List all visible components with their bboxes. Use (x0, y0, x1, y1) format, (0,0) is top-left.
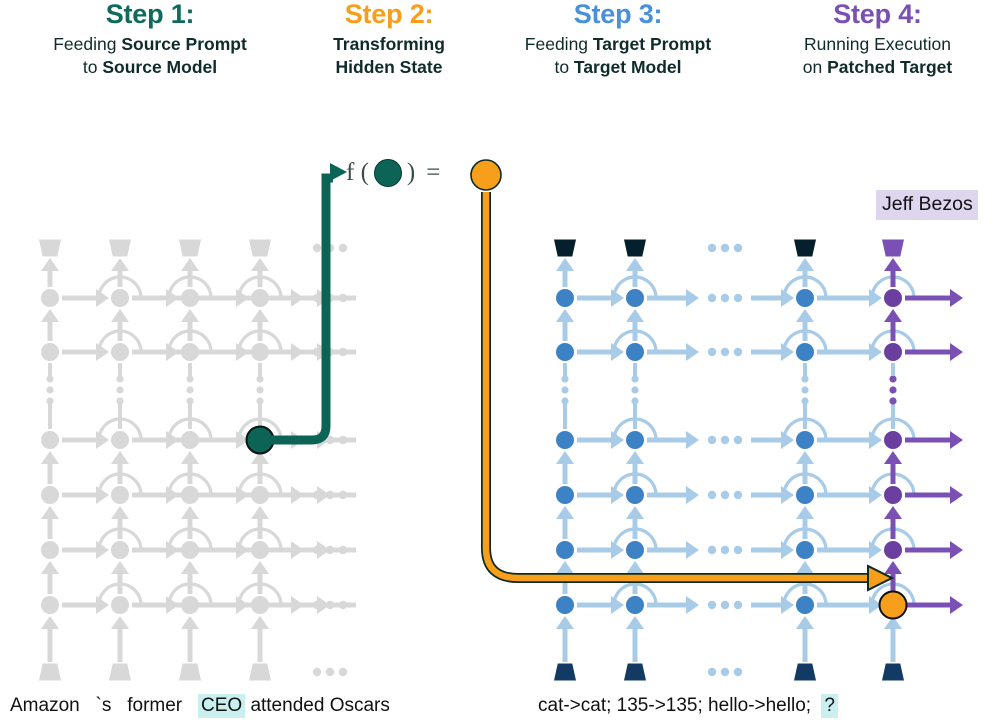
target-node-0-3 (884, 289, 902, 307)
source-head-arrow-2-head (181, 258, 199, 271)
target-out-arrow-0-head (950, 289, 963, 307)
transformed-hidden-state-node (471, 160, 501, 190)
source-out-arrow-5-head (317, 596, 330, 614)
target-varrow-5-2-head (796, 561, 814, 574)
target-head-arrow-1-head (626, 258, 644, 271)
model-output-label: Jeff Bezos (876, 190, 978, 220)
source-node-4-2 (181, 541, 199, 559)
target-row-ellipsis-3-0 (708, 491, 716, 499)
source-head-arrow-1-head (111, 258, 129, 271)
target-node-0-2 (796, 289, 814, 307)
source-varrow-5-1-head (111, 561, 129, 574)
target-node-4-0 (556, 541, 574, 559)
source-to-transform-path (272, 178, 333, 440)
target-node-3-1 (626, 486, 644, 504)
target-varrow-3-3-head (884, 451, 902, 464)
source-col-ellipsis-3-0 (256, 375, 263, 382)
target-varrow-1-0-head (556, 309, 574, 322)
target-head-ellipsis-2 (734, 244, 742, 252)
target-embed-arrow-2-head (796, 616, 814, 629)
source-head-arrow-0-head (41, 258, 59, 271)
source-varrow-4-2-head (181, 506, 199, 519)
source-col-ellipsis-2-0 (186, 375, 193, 382)
source-node-5-2 (181, 596, 199, 614)
target-out-arrow-3-head (950, 486, 963, 504)
target-row-ellipsis-5-2 (734, 601, 742, 609)
target-out-arrow-5-head (950, 596, 963, 614)
target-varrow-4-0-head (556, 506, 574, 519)
source-node-3-2 (181, 486, 199, 504)
target-query-token-highlighted: ? (821, 694, 838, 718)
target-row-ellipsis-4-2 (734, 546, 742, 554)
target-embed-token-2 (794, 664, 816, 681)
target-node-3-2 (796, 486, 814, 504)
source-node-2-1 (111, 431, 129, 449)
target-out-arrow-2-head (950, 431, 963, 449)
target-row-ellipsis-4-0 (708, 546, 716, 554)
source-embed-arrow-0-head (41, 616, 59, 629)
target-col-ellipsis-3-0 (889, 375, 896, 382)
target-node-0-0 (556, 289, 574, 307)
source-varrow-4-3-head (251, 506, 269, 519)
source-varrow-1-0-head (41, 309, 59, 322)
target-varrow-1-1-head (626, 309, 644, 322)
source-col-ellipsis-2-2 (186, 397, 193, 404)
source-node-0-2 (181, 289, 199, 307)
function-close-paren: ) (407, 159, 415, 187)
source-varrow-3-0-head (41, 451, 59, 464)
source-out-arrow-4-head (317, 541, 330, 559)
target-node-1-3 (884, 343, 902, 361)
source-embed-token-2 (179, 664, 201, 681)
source-col-ellipsis-3-2 (256, 397, 263, 404)
target-harrow-pre-1-head (686, 343, 699, 361)
source-col-ellipsis-0-2 (46, 397, 53, 404)
source-node-5-3 (251, 596, 269, 614)
source-node-3-3 (251, 486, 269, 504)
target-row-ellipsis-1-1 (721, 348, 729, 356)
target-varrow-3-2-head (796, 451, 814, 464)
source-col-ellipsis-3-1 (256, 386, 263, 393)
target-node-2-3 (884, 431, 902, 449)
source-varrow-5-0-head (41, 561, 59, 574)
target-head-1 (624, 240, 646, 257)
target-col-ellipsis-2-2 (801, 397, 808, 404)
target-row-ellipsis-5-1 (721, 601, 729, 609)
source-head-1 (109, 240, 131, 257)
target-col-ellipsis-1-2 (631, 397, 638, 404)
patched-node[interactable] (880, 592, 907, 619)
target-row-ellipsis-3-1 (721, 491, 729, 499)
target-node-4-2 (796, 541, 814, 559)
target-varrow-4-3-head (884, 506, 902, 519)
target-node-1-1 (626, 343, 644, 361)
source-node-2-0 (41, 431, 59, 449)
source-embed-ellipsis-0 (313, 668, 321, 676)
target-head-arrow-3-head (884, 258, 902, 271)
target-harrow-pre-5-head (686, 596, 699, 614)
target-varrow-5-1-head (626, 561, 644, 574)
target-row-ellipsis-0-1 (721, 294, 729, 302)
target-node-2-2 (796, 431, 814, 449)
source-head-2 (179, 240, 201, 257)
transform-function-notation: f ( ) = (346, 152, 440, 194)
target-row-ellipsis-3-2 (734, 491, 742, 499)
source-head-ellipsis-0 (313, 244, 321, 252)
target-col-ellipsis-3-1 (889, 386, 896, 393)
target-head-0 (554, 240, 576, 257)
source-node-4-1 (111, 541, 129, 559)
target-varrow-4-2-head (796, 506, 814, 519)
target-varrow-1-3-head (884, 309, 902, 322)
source-node-5-0 (41, 596, 59, 614)
source-embed-arrow-2-head (181, 616, 199, 629)
source-node-0-1 (111, 289, 129, 307)
target-node-3-3 (884, 486, 902, 504)
target-embed-arrow-0-head (556, 616, 574, 629)
target-varrow-5-3-head (884, 561, 902, 574)
target-harrow-pre-2-head (686, 431, 699, 449)
source-head-ellipsis-2 (339, 244, 347, 252)
source-varrow-1-2-head (181, 309, 199, 322)
source-col-ellipsis-0-1 (46, 386, 53, 393)
target-node-4-1 (626, 541, 644, 559)
target-node-3-0 (556, 486, 574, 504)
patch-path-outline (486, 192, 872, 578)
target-head-2 (794, 240, 816, 257)
source-varrow-1-1-head (111, 309, 129, 322)
target-node-5-0 (556, 596, 574, 614)
target-head-ellipsis-1 (721, 244, 729, 252)
source-varrow-3-1-head (111, 451, 129, 464)
target-row-ellipsis-0-2 (734, 294, 742, 302)
target-varrow-3-1-head (626, 451, 644, 464)
source-col-ellipsis-1-0 (116, 375, 123, 382)
source-node-5-1 (111, 596, 129, 614)
target-harrow-pre-4-head (686, 541, 699, 559)
function-f-label: f ( (346, 159, 369, 187)
source-varrow-5-3-head (251, 561, 269, 574)
source-embed-ellipsis-1 (326, 668, 334, 676)
source-embed-token-1 (109, 664, 131, 681)
source-token-5: Oscars (330, 695, 390, 717)
target-embed-token-3 (882, 664, 904, 681)
source-node-3-1 (111, 486, 129, 504)
target-col-ellipsis-0-2 (561, 397, 568, 404)
target-varrow-1-2-head (796, 309, 814, 322)
target-varrow-5-0-head (556, 561, 574, 574)
source-col-ellipsis-1-2 (116, 397, 123, 404)
source-head-3 (249, 240, 271, 257)
source-col-ellipsis-0-0 (46, 375, 53, 382)
source-node-4-3 (251, 541, 269, 559)
target-col-ellipsis-0-0 (561, 375, 568, 382)
source-embed-arrow-3-head (251, 616, 269, 629)
target-node-2-1 (626, 431, 644, 449)
target-embed-ellipsis-0 (708, 668, 716, 676)
target-row-ellipsis-1-0 (708, 348, 716, 356)
source-varrow-1-3-head (251, 309, 269, 322)
source-col-ellipsis-1-1 (116, 386, 123, 393)
target-node-4-3 (884, 541, 902, 559)
target-prompt-text: cat->cat; 135->135; hello->hello; ? (538, 694, 838, 718)
source-node-1-3 (251, 343, 269, 361)
source-node-1-1 (111, 343, 129, 361)
target-row-ellipsis-4-1 (721, 546, 729, 554)
target-node-2-0 (556, 431, 574, 449)
target-embed-arrow-1-head (626, 616, 644, 629)
source-hidden-state-node[interactable] (247, 427, 274, 454)
source-token-4: attended (250, 695, 324, 717)
target-row-ellipsis-1-2 (734, 348, 742, 356)
source-head-0 (39, 240, 61, 257)
target-embed-token-0 (554, 664, 576, 681)
source-prompt-text: Amazon `s former CEO attended Oscars (10, 694, 390, 718)
target-row-ellipsis-2-1 (721, 436, 729, 444)
source-node-3-0 (41, 486, 59, 504)
source-embed-token-3 (249, 664, 271, 681)
target-head-arrow-2-head (796, 258, 814, 271)
target-row-ellipsis-0-0 (708, 294, 716, 302)
patch-path (486, 192, 872, 578)
source-node-4-0 (41, 541, 59, 559)
target-node-5-1 (626, 596, 644, 614)
target-col-ellipsis-1-0 (631, 375, 638, 382)
target-node-1-2 (796, 343, 814, 361)
source-embed-token-0 (39, 664, 61, 681)
source-varrow-3-2-head (181, 451, 199, 464)
equals-sign: = (426, 159, 440, 187)
source-node-1-2 (181, 343, 199, 361)
source-hidden-state-node-icon (374, 159, 402, 187)
target-row-ellipsis-5-0 (708, 601, 716, 609)
target-head-ellipsis-0 (708, 244, 716, 252)
target-col-ellipsis-2-0 (801, 375, 808, 382)
source-head-arrow-3-head (251, 258, 269, 271)
target-embed-token-1 (624, 664, 646, 681)
target-harrow-pre-3-head (686, 486, 699, 504)
target-col-ellipsis-1-1 (631, 386, 638, 393)
source-node-1-0 (41, 343, 59, 361)
source-token-1: `s (96, 695, 112, 717)
network-diagram-svg (0, 0, 997, 724)
target-head-3 (882, 240, 904, 257)
target-head-arrow-0-head (556, 258, 574, 271)
target-col-ellipsis-3-2 (889, 397, 896, 404)
source-varrow-4-0-head (41, 506, 59, 519)
source-col-ellipsis-2-1 (186, 386, 193, 393)
target-node-5-2 (796, 596, 814, 614)
source-embed-ellipsis-2 (339, 668, 347, 676)
source-token-0: Amazon (10, 695, 80, 717)
source-node-0-3 (251, 289, 269, 307)
source-node-2-2 (181, 431, 199, 449)
target-col-ellipsis-2-1 (801, 386, 808, 393)
target-node-1-0 (556, 343, 574, 361)
source-embed-arrow-1-head (111, 616, 129, 629)
source-token-3-highlighted: CEO (198, 694, 245, 718)
target-out-arrow-4-head (950, 541, 963, 559)
teal-path-outline (272, 178, 326, 440)
target-varrow-3-0-head (556, 451, 574, 464)
source-varrow-4-1-head (111, 506, 129, 519)
target-node-0-1 (626, 289, 644, 307)
source-out-arrow-3-head (317, 486, 330, 504)
target-varrow-4-1-head (626, 506, 644, 519)
source-varrow-5-2-head (181, 561, 199, 574)
source-to-transform-arrowhead (330, 163, 347, 181)
target-col-ellipsis-0-1 (561, 386, 568, 393)
target-row-ellipsis-2-2 (734, 436, 742, 444)
source-node-0-0 (41, 289, 59, 307)
source-token-2: former (127, 695, 182, 717)
target-embed-ellipsis-2 (734, 668, 742, 676)
target-prompt-body: cat->cat; 135->135; hello->hello; (538, 695, 811, 717)
target-out-arrow-1-head (950, 343, 963, 361)
target-harrow-pre-0-head (686, 289, 699, 307)
diagram-canvas: Step 1: Feeding Source Prompt to Source … (0, 0, 997, 724)
target-embed-ellipsis-1 (721, 668, 729, 676)
target-row-ellipsis-2-0 (708, 436, 716, 444)
